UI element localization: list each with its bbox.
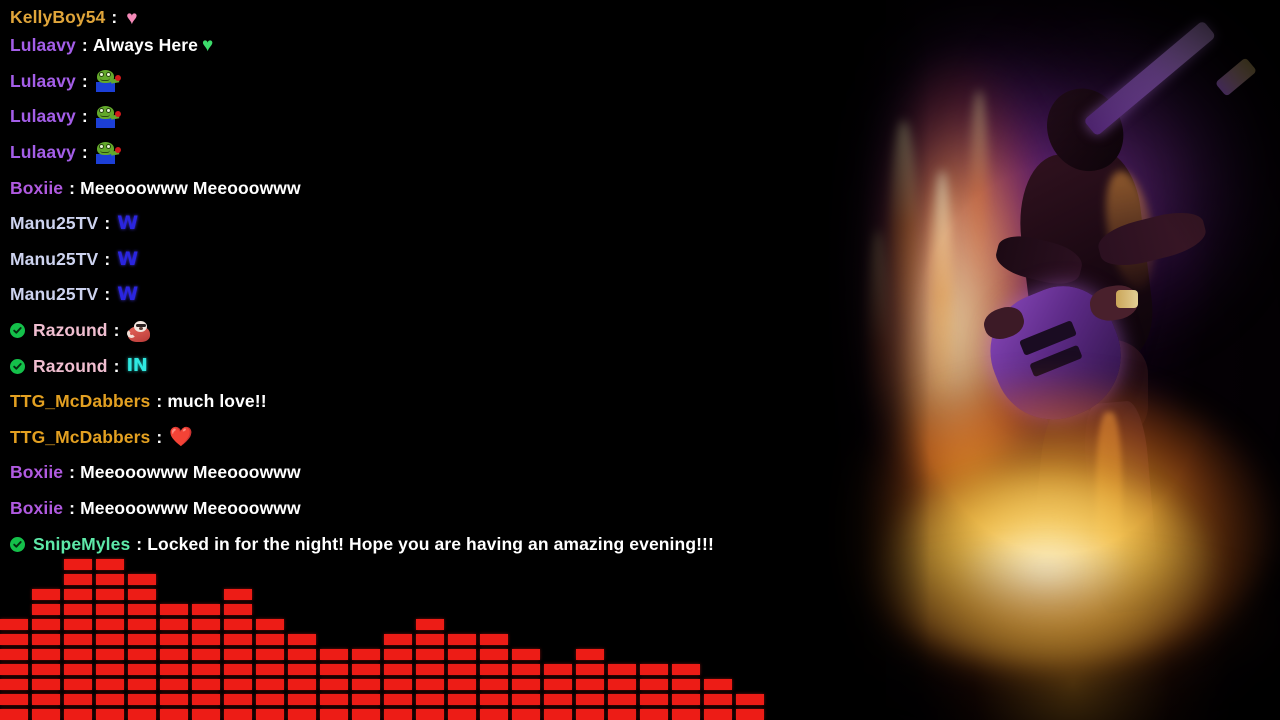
chat-username[interactable]: Boxiie (10, 498, 63, 519)
visualizer-segment (128, 709, 156, 720)
chat-separator: : (98, 284, 115, 305)
visualizer-segment (416, 679, 444, 690)
verified-badge-icon (10, 359, 25, 374)
chat-message-text: Always Here (93, 35, 198, 56)
visualizer-segment (32, 694, 60, 705)
chat-separator: : (63, 178, 80, 199)
chat-message[interactable]: Manu25TV:W (10, 206, 830, 242)
red-heart-emote: ❤️ (169, 428, 193, 447)
chat-username[interactable]: SnipeMyles (33, 534, 130, 555)
visualizer-segment (64, 709, 92, 720)
visualizer-segment (96, 679, 124, 690)
chat-message[interactable]: Lulaavy: (10, 135, 830, 171)
visualizer-segment (160, 694, 188, 705)
chat-username[interactable]: Lulaavy (10, 106, 76, 127)
verified-badge-icon (10, 323, 25, 338)
visualizer-segment (352, 664, 380, 675)
visualizer-segment (416, 634, 444, 645)
visualizer-segment (160, 679, 188, 690)
visualizer-segment (448, 679, 476, 690)
visualizer-segment (352, 679, 380, 690)
visualizer-segment (288, 694, 316, 705)
visualizer-segment (512, 679, 540, 690)
visualizer-segment (96, 709, 124, 720)
chat-message-text: Locked in for the night! Hope you are ha… (147, 534, 714, 555)
visualizer-segment (224, 604, 252, 615)
pink-heart-emote: ♥ (126, 9, 137, 28)
red-critter-emote (127, 320, 151, 342)
visualizer-segment (0, 634, 28, 645)
chat-username[interactable]: Lulaavy (10, 71, 76, 92)
visualizer-bar (352, 649, 380, 720)
visualizer-segment (192, 649, 220, 660)
pepe-frog-rose-emote (95, 70, 121, 92)
visualizer-segment (384, 649, 412, 660)
visualizer-segment (224, 619, 252, 630)
chat-username[interactable]: TTG_McDabbers (10, 427, 150, 448)
chat-message[interactable]: Manu25TV:W (10, 277, 830, 313)
visualizer-segment (32, 649, 60, 660)
visualizer-segment (512, 649, 540, 660)
chat-message-text: much love!! (167, 391, 266, 412)
chat-username[interactable]: KellyBoy54 (10, 7, 105, 28)
visualizer-segment (224, 664, 252, 675)
visualizer-segment (64, 664, 92, 675)
green-heart-emote: ♥ (202, 36, 213, 55)
visualizer-segment (64, 619, 92, 630)
visualizer-segment (192, 679, 220, 690)
chat-username[interactable]: Boxiie (10, 178, 63, 199)
visualizer-segment (96, 604, 124, 615)
chat-separator: : (76, 142, 93, 163)
visualizer-segment (576, 664, 604, 675)
visualizer-segment (448, 694, 476, 705)
chat-message[interactable]: SnipeMyles:Locked in for the night! Hope… (10, 526, 830, 562)
chat-message[interactable]: Lulaavy: (10, 99, 830, 135)
visualizer-segment (576, 649, 604, 660)
visualizer-segment (160, 604, 188, 615)
visualizer-segment (640, 679, 668, 690)
visualizer-segment (416, 619, 444, 630)
guitarist-in-flames-artwork (820, 0, 1280, 720)
visualizer-segment (256, 634, 284, 645)
visualizer-segment (0, 649, 28, 660)
visualizer-segment (96, 559, 124, 570)
visualizer-segment (64, 694, 92, 705)
visualizer-segment (576, 694, 604, 705)
visualizer-bar (288, 634, 316, 720)
visualizer-segment (512, 664, 540, 675)
visualizer-bar (256, 619, 284, 720)
visualizer-segment (608, 679, 636, 690)
chat-message[interactable]: Razound:IN (10, 348, 830, 384)
chat-message-text: Meeooowww Meeooowww (80, 178, 301, 199)
visualizer-segment (64, 559, 92, 570)
visualizer-segment (288, 664, 316, 675)
visualizer-segment (224, 649, 252, 660)
visualizer-segment (448, 649, 476, 660)
visualizer-segment (480, 649, 508, 660)
visualizer-segment (640, 694, 668, 705)
chat-message[interactable]: Manu25TV:W (10, 242, 830, 278)
visualizer-segment (480, 664, 508, 675)
visualizer-segment (64, 649, 92, 660)
visualizer-bar (736, 694, 764, 720)
visualizer-bar (608, 664, 636, 720)
visualizer-segment (32, 619, 60, 630)
visualizer-bar (320, 649, 348, 720)
chat-username[interactable]: Lulaavy (10, 142, 76, 163)
visualizer-segment (32, 589, 60, 600)
visualizer-segment (640, 709, 668, 720)
visualizer-segment (608, 664, 636, 675)
visualizer-segment (128, 604, 156, 615)
chat-separator: : (130, 534, 147, 555)
audio-visualizer (0, 560, 764, 720)
visualizer-bar (480, 634, 508, 720)
visualizer-bar (0, 619, 28, 720)
visualizer-segment (480, 679, 508, 690)
pepe-frog-rose-emote (95, 142, 121, 164)
chat-username[interactable]: Manu25TV (10, 249, 98, 270)
visualizer-segment (544, 694, 572, 705)
visualizer-segment (96, 694, 124, 705)
visualizer-segment (384, 664, 412, 675)
chat-message[interactable]: TTG_McDabbers:❤️ (10, 420, 830, 456)
chat-username[interactable]: Manu25TV (10, 213, 98, 234)
visualizer-segment (576, 679, 604, 690)
visualizer-segment (64, 604, 92, 615)
visualizer-segment (160, 664, 188, 675)
visualizer-segment (192, 604, 220, 615)
visualizer-bar (192, 604, 220, 720)
visualizer-segment (384, 694, 412, 705)
visualizer-segment (160, 634, 188, 645)
visualizer-segment (96, 574, 124, 585)
visualizer-segment (544, 664, 572, 675)
visualizer-segment (32, 604, 60, 615)
chat-username[interactable]: TTG_McDabbers (10, 391, 150, 412)
visualizer-segment (0, 679, 28, 690)
visualizer-segment (384, 709, 412, 720)
chat-message-text: Meeooowww Meeooowww (80, 498, 301, 519)
visualizer-segment (32, 664, 60, 675)
visualizer-segment (416, 694, 444, 705)
visualizer-segment (128, 649, 156, 660)
visualizer-segment (512, 709, 540, 720)
visualizer-segment (544, 679, 572, 690)
chat-message[interactable]: Lulaavy: (10, 64, 830, 100)
visualizer-segment (192, 664, 220, 675)
chat-message[interactable]: Boxiie:Meeooowww Meeooowww (10, 170, 830, 206)
visualizer-segment (672, 664, 700, 675)
visualizer-segment (704, 709, 732, 720)
visualizer-segment (192, 619, 220, 630)
visualizer-segment (192, 634, 220, 645)
chat-separator: : (76, 71, 93, 92)
visualizer-bar (640, 664, 668, 720)
chat-message[interactable]: Boxiie:Meeooowww Meeooowww (10, 455, 830, 491)
visualizer-bar (512, 649, 540, 720)
visualizer-segment (96, 589, 124, 600)
visualizer-segment (0, 709, 28, 720)
visualizer-segment (224, 709, 252, 720)
visualizer-bar (96, 559, 124, 720)
visualizer-segment (224, 589, 252, 600)
visualizer-segment (448, 664, 476, 675)
visualizer-segment (128, 679, 156, 690)
visualizer-segment (672, 679, 700, 690)
visualizer-bar (448, 634, 476, 720)
visualizer-segment (0, 664, 28, 675)
chat-separator: : (76, 106, 93, 127)
visualizer-segment (160, 709, 188, 720)
chat-separator: : (108, 320, 125, 341)
visualizer-segment (256, 694, 284, 705)
chat-username[interactable]: Razound (33, 356, 108, 377)
visualizer-segment (288, 709, 316, 720)
visualizer-segment (288, 634, 316, 645)
visualizer-segment (320, 679, 348, 690)
visualizer-segment (128, 589, 156, 600)
visualizer-segment (256, 649, 284, 660)
visualizer-bar (416, 619, 444, 720)
visualizer-bar (224, 589, 252, 720)
visualizer-segment (384, 634, 412, 645)
chat-separator: : (63, 462, 80, 483)
visualizer-segment (480, 709, 508, 720)
visualizer-segment (128, 634, 156, 645)
visualizer-segment (128, 574, 156, 585)
visualizer-bar (672, 664, 700, 720)
visualizer-segment (608, 694, 636, 705)
chat-message[interactable]: Lulaavy:Always Here♥ (10, 28, 830, 64)
visualizer-segment (736, 694, 764, 705)
chat-separator: : (150, 427, 167, 448)
chat-username[interactable]: Boxiie (10, 462, 63, 483)
visualizer-segment (544, 709, 572, 720)
visualizer-segment (0, 694, 28, 705)
visualizer-segment (64, 589, 92, 600)
visualizer-segment (192, 694, 220, 705)
chat-message-text: Meeooowww Meeooowww (80, 462, 301, 483)
chat-separator: : (98, 249, 115, 270)
chat-username[interactable]: Razound (33, 320, 108, 341)
visualizer-segment (576, 709, 604, 720)
visualizer-segment (224, 694, 252, 705)
visualizer-segment (512, 694, 540, 705)
visualizer-segment (352, 649, 380, 660)
visualizer-bar (64, 559, 92, 720)
visualizer-segment (480, 694, 508, 705)
visualizer-segment (256, 709, 284, 720)
visualizer-bar (576, 649, 604, 720)
visualizer-segment (224, 634, 252, 645)
blue-w-emote: W (117, 285, 137, 304)
visualizer-bar (544, 664, 572, 720)
visualizer-segment (192, 709, 220, 720)
pepe-frog-rose-emote (95, 106, 121, 128)
visualizer-bar (128, 574, 156, 720)
visualizer-segment (704, 679, 732, 690)
blue-w-emote: W (117, 250, 137, 269)
visualizer-segment (608, 709, 636, 720)
visualizer-segment (480, 634, 508, 645)
visualizer-segment (64, 574, 92, 585)
visualizer-segment (416, 709, 444, 720)
chat-message[interactable]: Boxiie:Meeooowww Meeooowww (10, 491, 830, 527)
visualizer-bar (32, 589, 60, 720)
visualizer-segment (288, 679, 316, 690)
chat-message[interactable]: Razound: (10, 313, 830, 349)
visualizer-segment (384, 679, 412, 690)
visualizer-segment (256, 679, 284, 690)
visualizer-segment (704, 694, 732, 705)
visualizer-segment (640, 664, 668, 675)
visualizer-segment (448, 709, 476, 720)
visualizer-segment (96, 664, 124, 675)
visualizer-bar (160, 604, 188, 720)
visualizer-segment (64, 679, 92, 690)
visualizer-segment (320, 664, 348, 675)
visualizer-segment (64, 634, 92, 645)
visualizer-segment (672, 694, 700, 705)
chat-separator: : (98, 213, 115, 234)
verified-badge-icon (10, 537, 25, 552)
visualizer-segment (32, 634, 60, 645)
visualizer-segment (96, 649, 124, 660)
visualizer-segment (96, 619, 124, 630)
chat-username[interactable]: Manu25TV (10, 284, 98, 305)
visualizer-segment (448, 634, 476, 645)
chat-separator: : (150, 391, 167, 412)
chat-separator: : (108, 356, 125, 377)
visualizer-segment (128, 664, 156, 675)
visualizer-segment (320, 694, 348, 705)
visualizer-segment (352, 694, 380, 705)
visualizer-segment (96, 634, 124, 645)
visualizer-segment (320, 649, 348, 660)
visualizer-segment (320, 709, 348, 720)
visualizer-segment (160, 649, 188, 660)
visualizer-segment (672, 709, 700, 720)
visualizer-segment (128, 694, 156, 705)
visualizer-bar (704, 679, 732, 720)
visualizer-segment (32, 709, 60, 720)
visualizer-segment (416, 664, 444, 675)
visualizer-segment (416, 649, 444, 660)
stream-overlay-stage: KellyBoy54:♥Lulaavy:Always Here♥Lulaavy:… (0, 0, 1280, 720)
visualizer-segment (736, 709, 764, 720)
blue-w-emote: W (117, 214, 137, 233)
chat-message[interactable]: TTG_McDabbers:much love!! (10, 384, 830, 420)
visualizer-segment (32, 679, 60, 690)
chat-separator: : (105, 7, 122, 28)
chat-username[interactable]: Lulaavy (10, 35, 76, 56)
visualizer-segment (160, 619, 188, 630)
visualizer-segment (128, 619, 156, 630)
visualizer-segment (0, 619, 28, 630)
chat-separator: : (63, 498, 80, 519)
visualizer-segment (256, 619, 284, 630)
chat-separator: : (76, 35, 93, 56)
chat-message[interactable]: KellyBoy54:♥ (10, 0, 830, 28)
visualizer-segment (256, 664, 284, 675)
cyan-in-emote: IN (127, 357, 148, 375)
visualizer-segment (288, 649, 316, 660)
visualizer-segment (224, 679, 252, 690)
visualizer-bar (384, 634, 412, 720)
chat-message-list[interactable]: KellyBoy54:♥Lulaavy:Always Here♥Lulaavy:… (0, 0, 840, 575)
visualizer-segment (352, 709, 380, 720)
